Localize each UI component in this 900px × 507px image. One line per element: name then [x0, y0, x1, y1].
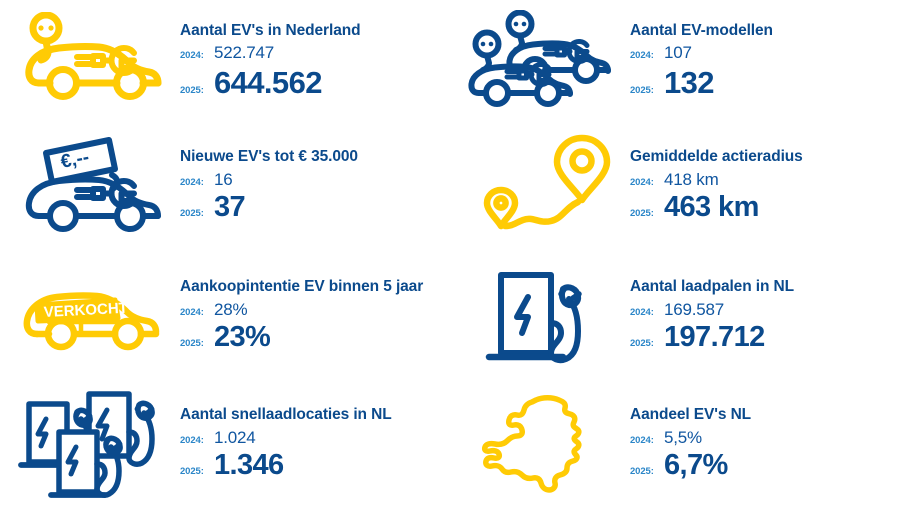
stat-prev-row: 2024: 418 km — [630, 169, 894, 190]
stat-prev-row: 2024: 1.024 — [180, 427, 444, 448]
stat-cur-row: 2025: 6,7% — [630, 449, 894, 482]
stat-title: Aankoopintentie EV binnen 5 jaar — [180, 278, 444, 296]
stat-card-aankoopintentie-ev: VERKOCHT Aankoopintentie EV binnen 5 jaa… — [0, 250, 450, 380]
stat-cur-row: 2025: 1.346 — [180, 449, 444, 482]
stat-text-block: Aantal laadpalen in NL 2024: 169.587 202… — [630, 276, 894, 354]
stat-cur-value: 197.712 — [664, 321, 765, 354]
stat-cur-row: 2025: 37 — [180, 191, 444, 224]
year-label-cur: 2025: — [630, 85, 664, 96]
stat-cur-value: 1.346 — [214, 449, 284, 482]
stat-prev-value: 28% — [214, 299, 247, 320]
stat-title: Aantal laadpalen in NL — [630, 278, 894, 296]
two-ev-cars-blue-icon — [450, 0, 630, 120]
price-tag-text: €,-- — [59, 147, 91, 173]
stat-prev-value: 1.024 — [214, 427, 256, 448]
year-label-prev: 2024: — [180, 177, 214, 188]
netherlands-map-yellow-icon — [450, 380, 630, 507]
sold-car-yellow-icon: VERKOCHT — [0, 250, 180, 380]
year-label-prev: 2024: — [630, 435, 664, 446]
stat-cur-value: 463 km — [664, 191, 759, 224]
charging-station-blue-icon — [450, 250, 630, 380]
stat-prev-value: 5,5% — [664, 427, 702, 448]
stat-title: Aantal EV-modellen — [630, 22, 894, 40]
stat-text-block: Aantal snellaadlocaties in NL 2024: 1.02… — [180, 404, 444, 482]
stat-prev-row: 2024: 169.587 — [630, 299, 894, 320]
year-label-prev: 2024: — [180, 435, 214, 446]
stat-cur-row: 2025: 463 km — [630, 191, 894, 224]
stat-card-nieuwe-evs-tot-35000: €,-- Nieuwe EV's tot € 35.000 2024: 16 2… — [0, 120, 450, 250]
stat-text-block: Nieuwe EV's tot € 35.000 2024: 16 2025: … — [180, 146, 444, 224]
stat-title: Aantal snellaadlocaties in NL — [180, 406, 444, 424]
stat-cur-value: 132 — [664, 65, 714, 101]
ev-car-price-tag-blue-icon: €,-- — [0, 120, 180, 250]
stat-card-gemiddelde-actieradius: Gemiddelde actieradius 2024: 418 km 2025… — [450, 120, 900, 250]
stat-card-aandeel-evs-nl: Aandeel EV's NL 2024: 5,5% 2025: 6,7% — [450, 380, 900, 507]
stat-prev-row: 2024: 107 — [630, 42, 894, 63]
stat-prev-value: 107 — [664, 42, 692, 63]
stat-card-laadpalen-in-nl: Aantal laadpalen in NL 2024: 169.587 202… — [450, 250, 900, 380]
year-label-prev: 2024: — [180, 307, 214, 318]
stat-cur-row: 2025: 644.562 — [180, 65, 444, 101]
stat-cur-row: 2025: 23% — [180, 321, 444, 354]
three-charging-stations-blue-icon — [0, 380, 180, 507]
stat-card-ev-modellen: Aantal EV-modellen 2024: 107 2025: 132 — [450, 0, 900, 120]
stat-prev-value: 418 km — [664, 169, 719, 190]
year-label-cur: 2025: — [630, 208, 664, 219]
stat-text-block: Aankoopintentie EV binnen 5 jaar 2024: 2… — [180, 276, 444, 354]
year-label-prev: 2024: — [630, 307, 664, 318]
stat-text-block: Aandeel EV's NL 2024: 5,5% 2025: 6,7% — [630, 404, 894, 482]
stat-text-block: Aantal EV's in Nederland 2024: 522.747 2… — [180, 20, 444, 101]
stat-prev-row: 2024: 16 — [180, 169, 444, 190]
stat-prev-row: 2024: 5,5% — [630, 427, 894, 448]
year-label-prev: 2024: — [630, 50, 664, 61]
year-label-cur: 2025: — [630, 338, 664, 349]
year-label-cur: 2025: — [180, 338, 214, 349]
stat-title: Gemiddelde actieradius — [630, 148, 894, 166]
stat-cur-value: 6,7% — [664, 449, 728, 482]
stat-prev-value: 169.587 — [664, 299, 724, 320]
stat-prev-value: 16 — [214, 169, 233, 190]
stat-prev-row: 2024: 522.747 — [180, 42, 444, 63]
stat-title: Aantal EV's in Nederland — [180, 22, 444, 40]
stat-cur-value: 644.562 — [214, 65, 322, 101]
year-label-cur: 2025: — [180, 85, 214, 96]
stat-cur-value: 23% — [214, 321, 270, 354]
ev-statistics-infographic: Aantal EV's in Nederland 2024: 522.747 2… — [0, 0, 900, 507]
stat-cur-value: 37 — [214, 191, 245, 224]
year-label-cur: 2025: — [180, 208, 214, 219]
ev-car-charging-yellow-icon — [0, 0, 180, 120]
year-label-cur: 2025: — [180, 466, 214, 477]
stat-card-ev-in-nederland: Aantal EV's in Nederland 2024: 522.747 2… — [0, 0, 450, 120]
stat-card-snellaadlocaties-in-nl: Aantal snellaadlocaties in NL 2024: 1.02… — [0, 380, 450, 507]
stat-text-block: Gemiddelde actieradius 2024: 418 km 2025… — [630, 146, 894, 224]
stat-title: Aandeel EV's NL — [630, 406, 894, 424]
stat-text-block: Aantal EV-modellen 2024: 107 2025: 132 — [630, 20, 894, 101]
year-label-cur: 2025: — [630, 466, 664, 477]
year-label-prev: 2024: — [630, 177, 664, 188]
route-map-pins-yellow-icon — [450, 120, 630, 250]
stat-cur-row: 2025: 132 — [630, 65, 894, 101]
stat-cur-row: 2025: 197.712 — [630, 321, 894, 354]
year-label-prev: 2024: — [180, 50, 214, 61]
stat-prev-row: 2024: 28% — [180, 299, 444, 320]
stat-title: Nieuwe EV's tot € 35.000 — [180, 148, 444, 166]
stat-prev-value: 522.747 — [214, 42, 274, 63]
